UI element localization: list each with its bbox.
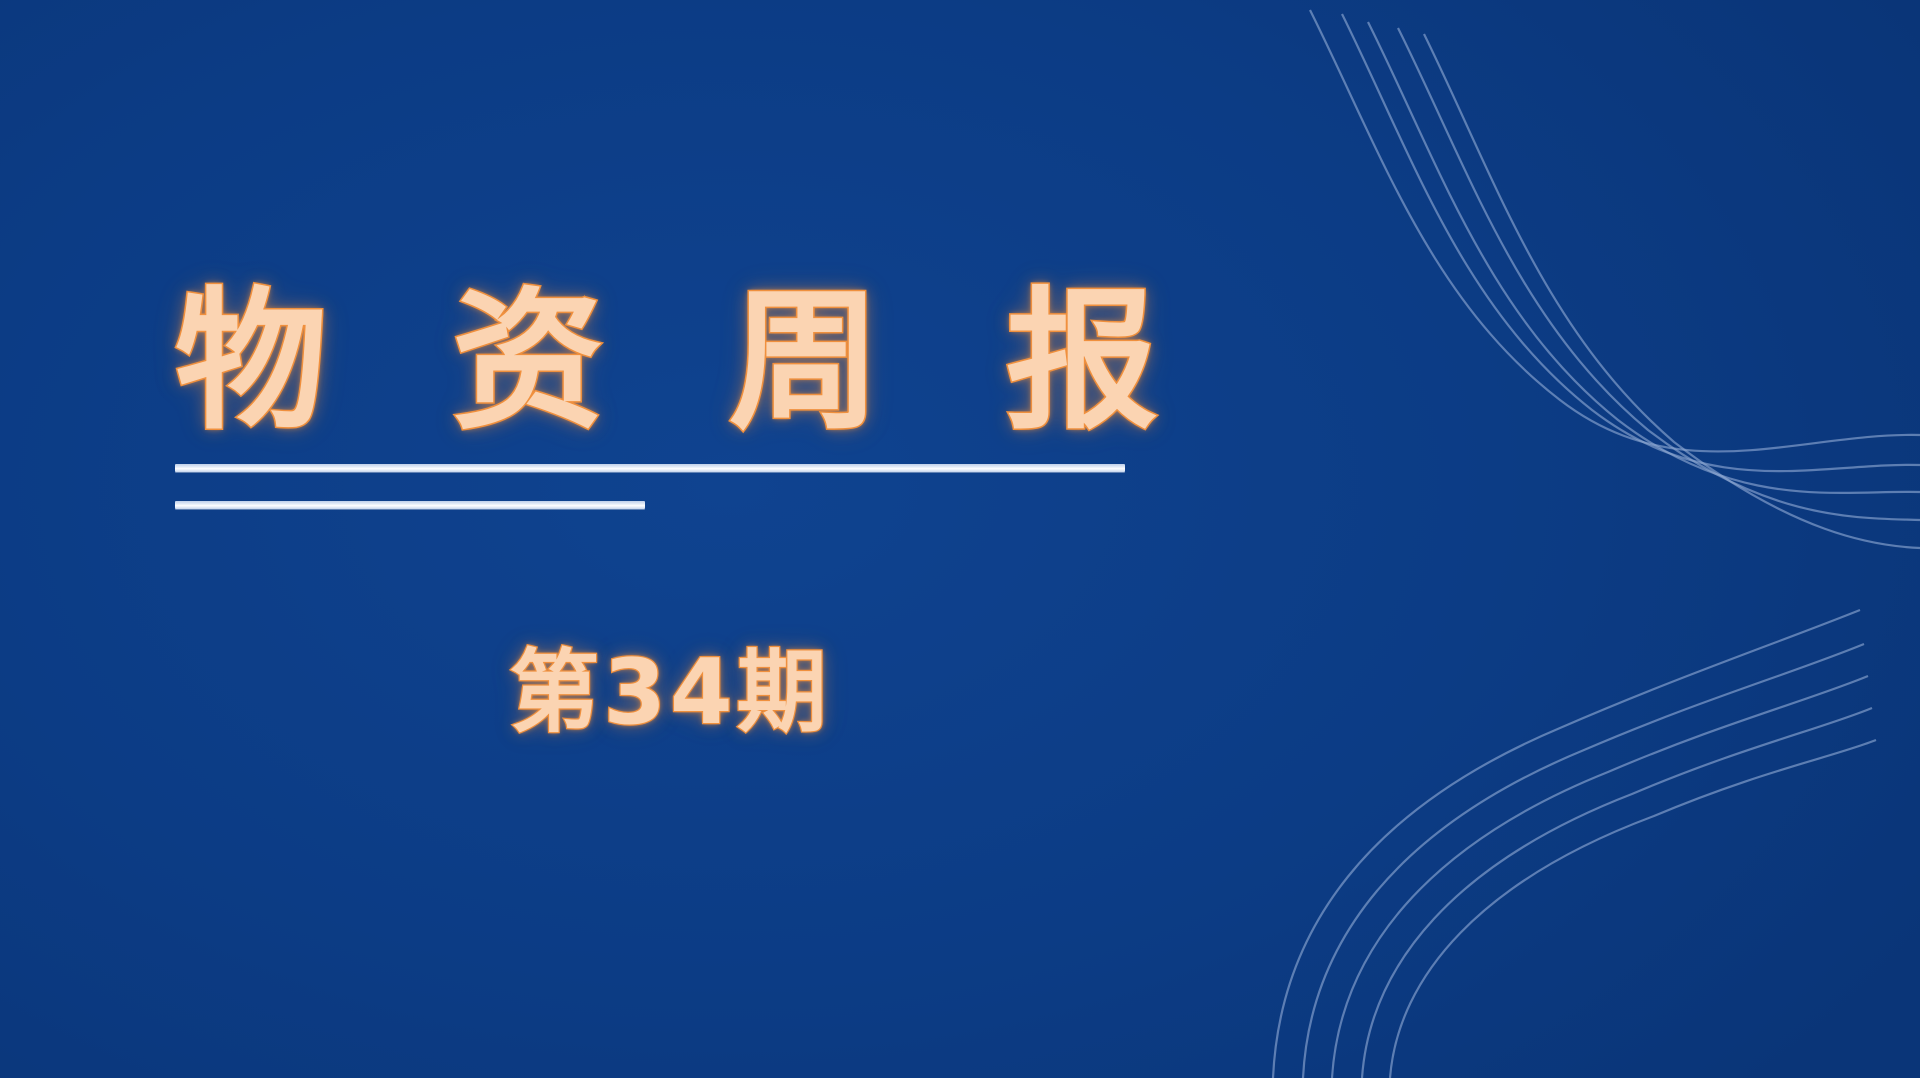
deco-arc-5 xyxy=(1390,740,1876,1078)
deco-curve-2 xyxy=(1342,14,1920,471)
curved-lines-bottom-right-decoration xyxy=(1260,598,1920,1078)
presentation-title-slide: 物 资 周 报 第34期 xyxy=(0,0,1920,1078)
deco-curve-4 xyxy=(1398,28,1920,520)
deco-curve-5 xyxy=(1424,34,1920,548)
title-underline-group xyxy=(175,464,1175,509)
deco-curve-3 xyxy=(1368,22,1920,493)
deco-arc-2 xyxy=(1303,644,1864,1078)
issue-number-subtitle: 第34期 xyxy=(175,648,1165,738)
page-title: 物 资 周 报 xyxy=(175,286,1175,438)
deco-arc-3 xyxy=(1332,676,1868,1078)
title-underline-primary xyxy=(175,464,1125,472)
deco-arc-1 xyxy=(1273,610,1860,1078)
title-block: 物 资 周 报 xyxy=(175,286,1175,509)
curved-lines-top-right-decoration xyxy=(1260,0,1920,600)
deco-curve-1 xyxy=(1310,10,1920,451)
deco-arc-4 xyxy=(1362,708,1872,1078)
title-underline-secondary xyxy=(175,501,645,509)
